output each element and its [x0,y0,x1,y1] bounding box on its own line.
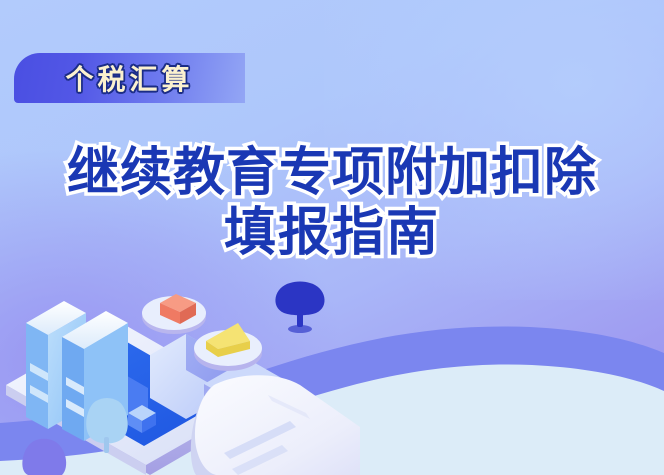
tree-dark [275,282,324,334]
category-badge-label: 个税汇算 [65,58,193,98]
red-block-platform [142,294,206,334]
poster-root: 个税汇算 继续教育专项附加扣除 填报指南 [0,0,664,475]
page-title-line-1: 继续教育专项附加扣除 [0,143,664,203]
foreground-blob [22,439,66,475]
curled-paper [191,375,360,475]
education-illustration [0,245,360,475]
category-badge: 个税汇算 [14,53,245,103]
yellow-wedge-platform [194,323,262,371]
